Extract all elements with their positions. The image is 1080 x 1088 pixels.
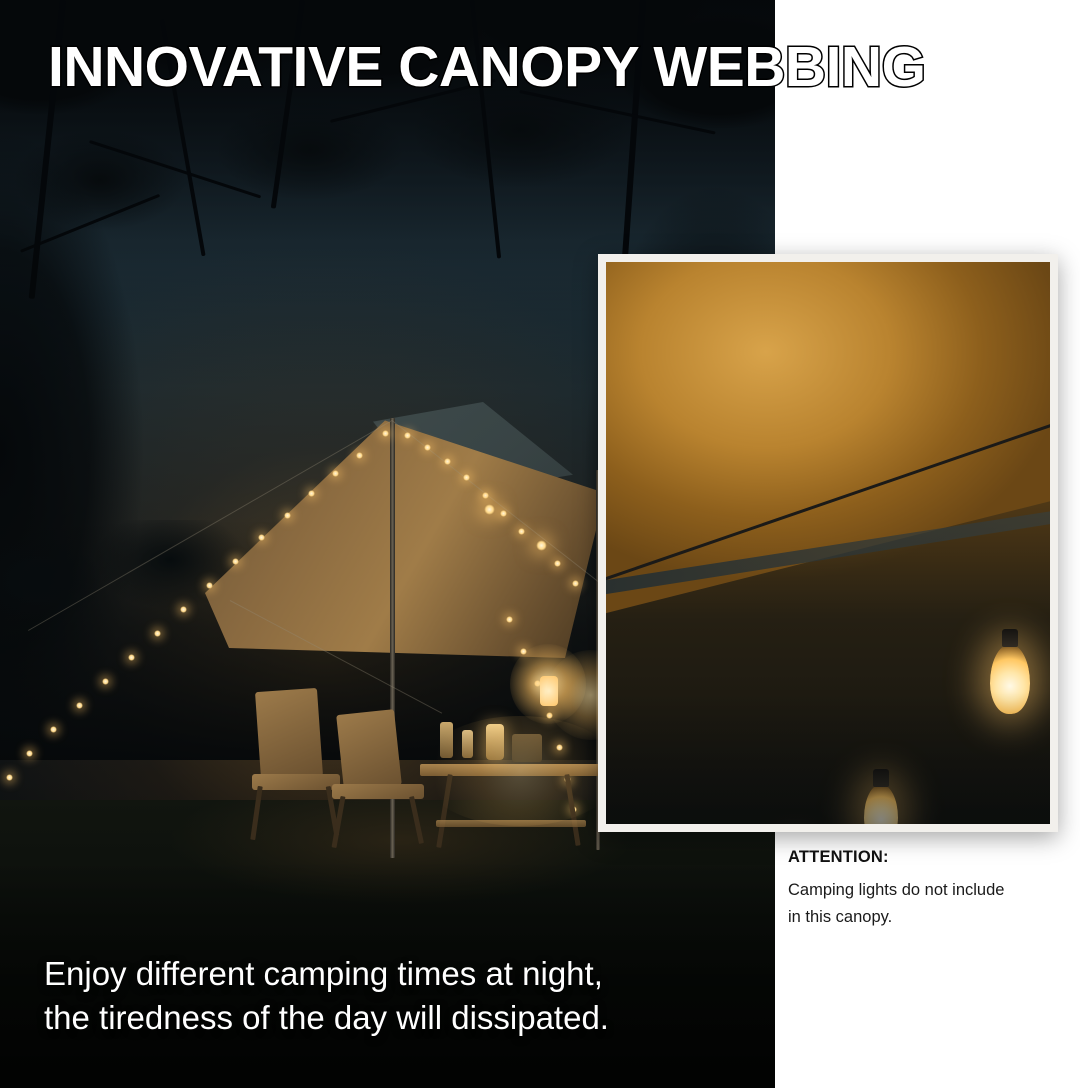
inset-bottom-shadow (606, 692, 1050, 824)
inset-detail-photo (606, 262, 1050, 824)
string-light-bulb (463, 474, 470, 481)
string-light-bulb (444, 458, 451, 465)
caption-line-2: the tiredness of the day will dissipated… (44, 996, 744, 1040)
string-light-bulb (482, 492, 489, 499)
string-light-bulb (258, 534, 265, 541)
string-light-bulb (424, 444, 431, 451)
string-light-bulb (356, 452, 363, 459)
string-light-bulb (180, 606, 187, 613)
string-light-bulb (404, 432, 411, 439)
string-light-bulb (572, 580, 579, 587)
page-title: INNOVATIVE CANOPY WEBBING (48, 38, 1058, 98)
poster-root: INNOVATIVE CANOPY WEBBING (0, 0, 1080, 1088)
string-light-bulb (506, 616, 513, 623)
string-light-bulb (206, 582, 213, 589)
string-light-bulb (128, 654, 135, 661)
string-light-bulb (554, 560, 561, 567)
chair-leg (332, 796, 346, 848)
attention-line-2: in this canopy. (788, 904, 1068, 931)
inset-photo-frame (598, 254, 1058, 832)
string-light-bulb (500, 510, 507, 517)
string-light-bulb (518, 528, 525, 535)
table-glow (420, 716, 620, 826)
string-light-bulb (308, 490, 315, 497)
tarp-canopy (205, 408, 605, 658)
tarp-panel-front (205, 408, 605, 658)
chair-back (336, 709, 402, 791)
attention-title: ATTENTION: (788, 848, 1068, 867)
chair-leg (250, 786, 262, 840)
attention-note: ATTENTION: Camping lights do not include… (788, 848, 1068, 930)
attention-line-1: Camping lights do not include (788, 877, 1068, 904)
string-light-bulb (50, 726, 57, 733)
string-light-bulb (232, 558, 239, 565)
string-light-bulb (536, 540, 547, 551)
attention-body: Camping lights do not include in this ca… (788, 877, 1068, 930)
bulb-socket (1002, 629, 1018, 647)
bottom-caption: Enjoy different camping times at night, … (44, 952, 744, 1040)
string-light-bulb (484, 504, 495, 515)
caption-line-1: Enjoy different camping times at night, (44, 952, 744, 996)
string-light-bulb (332, 470, 339, 477)
string-light-bulb (76, 702, 83, 709)
string-light-bulb (6, 774, 13, 781)
string-light-bulb (284, 512, 291, 519)
string-light-bulb (102, 678, 109, 685)
string-light-bulb (26, 750, 33, 757)
chair-back (255, 688, 323, 780)
string-light-bulb (382, 430, 389, 437)
string-light-bulb (154, 630, 161, 637)
